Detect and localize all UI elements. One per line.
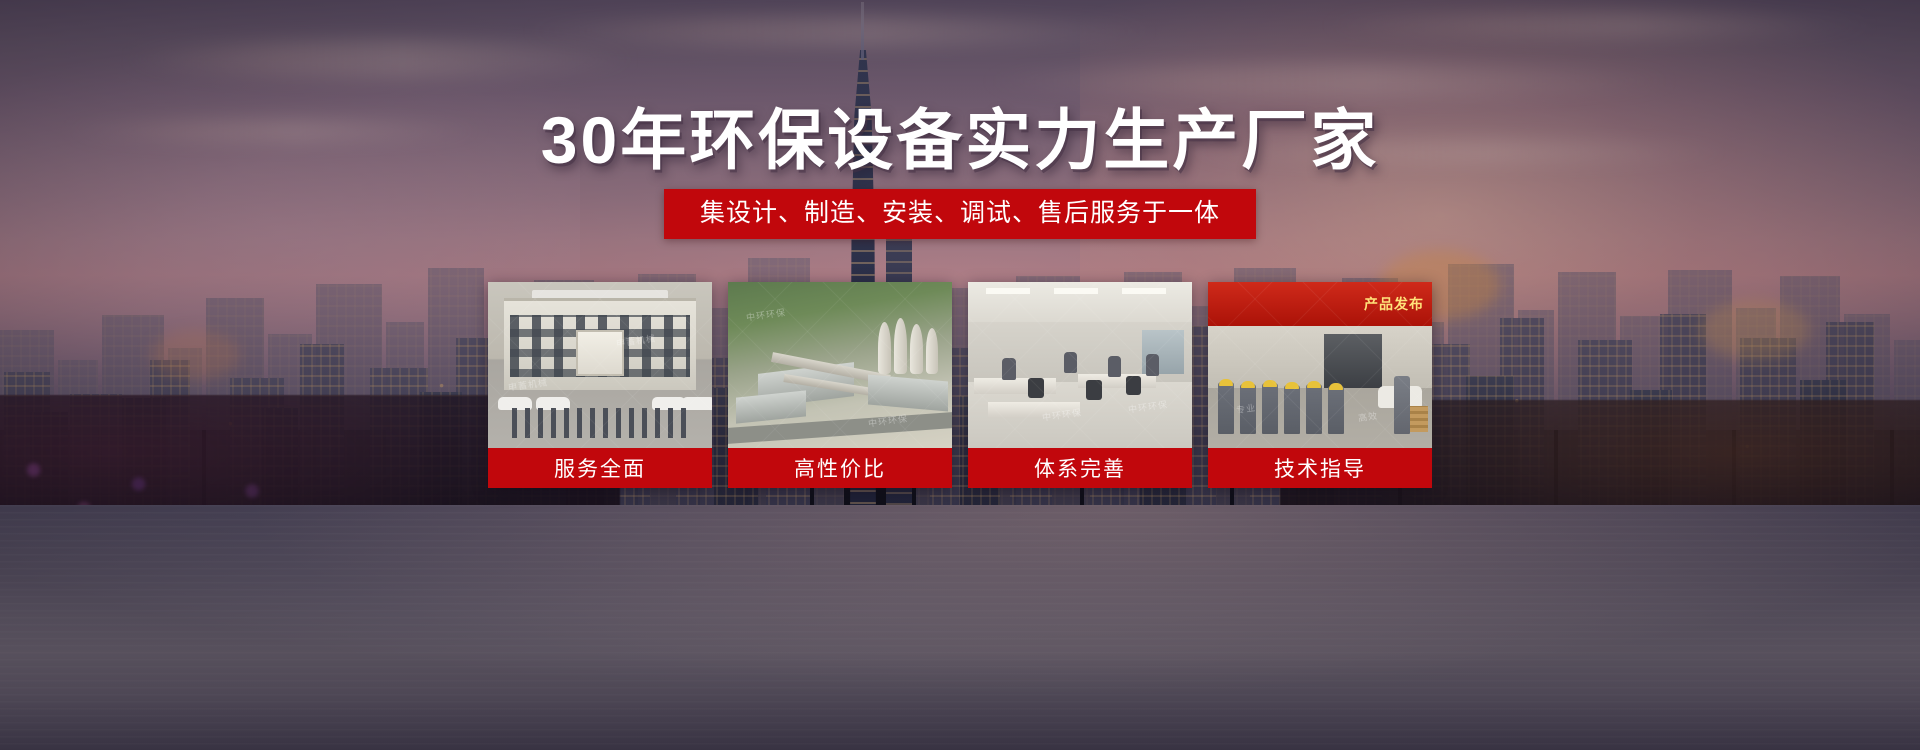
feature-card-label: 高性价比: [728, 448, 952, 488]
feature-card[interactable]: 中环环保 中环环保 体系完善: [968, 282, 1192, 488]
feature-card-label: 服务全面: [488, 448, 712, 488]
feature-card[interactable]: 中环环保 中环环保 高性价比: [728, 282, 952, 488]
office-interior-photo: 中环环保 中环环保: [968, 282, 1192, 448]
banner-headline: 30年环保设备实力生产厂家: [0, 104, 1920, 176]
feature-card-label: 技术指导: [1208, 448, 1432, 488]
photo-watermark: 中环环保: [745, 305, 786, 323]
hero-banner: 30年环保设备实力生产厂家 集设计、制造、安装、调试、售后服务于一体 申蓄机械 …: [0, 0, 1920, 750]
photo-watermark: 高效: [1357, 409, 1379, 425]
feature-card-label: 体系完善: [968, 448, 1192, 488]
feature-card[interactable]: 申蓄机械 申蓄机械 服务全面: [488, 282, 712, 488]
banner-subtitle-wrap: 集设计、制造、安装、调试、售后服务于一体: [0, 189, 1920, 239]
workshop-workers-photo: 产品发布: [1208, 282, 1432, 448]
aerial-industrial-plant-photo: 中环环保 中环环保: [728, 282, 952, 448]
banner-content: 30年环保设备实力生产厂家 集设计、制造、安装、调试、售后服务于一体 申蓄机械 …: [0, 0, 1920, 750]
company-office-building-photo: 申蓄机械 申蓄机械: [488, 282, 712, 448]
feature-card[interactable]: 产品发布: [1208, 282, 1432, 488]
workshop-banner-text: 产品发布: [1208, 282, 1432, 326]
feature-card-list: 申蓄机械 申蓄机械 服务全面 中环环保: [0, 282, 1920, 488]
banner-subtitle-badge: 集设计、制造、安装、调试、售后服务于一体: [664, 189, 1256, 239]
